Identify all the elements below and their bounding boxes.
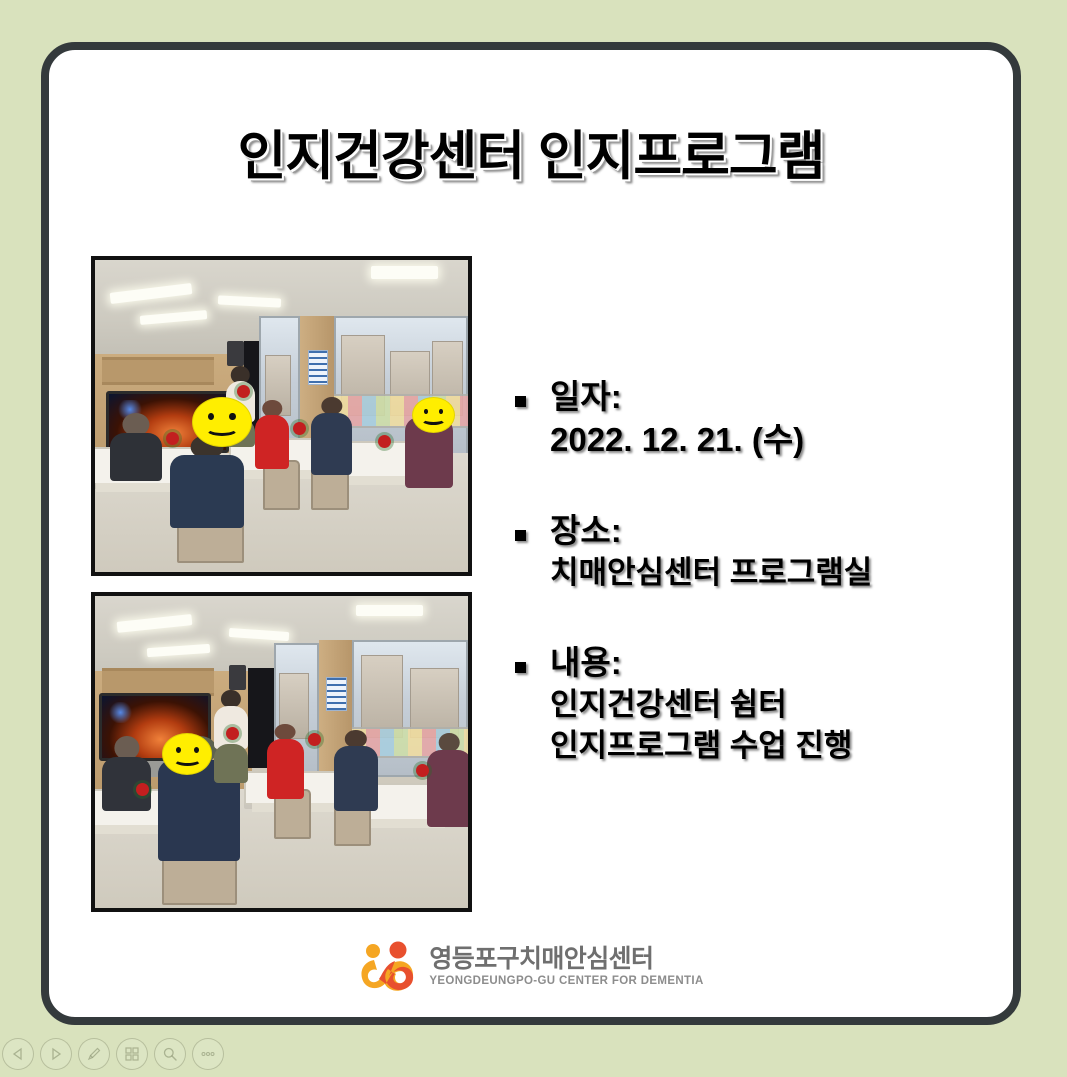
body xyxy=(334,746,379,812)
person xyxy=(110,413,162,482)
person xyxy=(334,730,379,811)
person xyxy=(427,733,472,827)
bullet-square-icon xyxy=(515,396,526,407)
viewer-toolbar xyxy=(0,1031,1067,1077)
wall-shelf xyxy=(102,357,214,385)
wall-shelf xyxy=(102,668,214,696)
detail-value: 인지프로그램 수업 진행 xyxy=(550,725,1015,766)
speaker xyxy=(227,341,244,366)
head xyxy=(275,724,296,740)
body xyxy=(170,455,245,528)
search-icon[interactable] xyxy=(154,1038,186,1070)
flower xyxy=(226,727,239,740)
detail-value: 2022. 12. 21. (수) xyxy=(550,418,1015,462)
logo-text-group: 영등포구치매안심센터 YEONGDEUNGPO-GU CENTER FOR DE… xyxy=(429,947,703,988)
dementia-center-logo-icon xyxy=(358,941,416,993)
detail-list: 일자: 2022. 12. 21. (수) 장소: 치매안심센터 프로그램실 내… xyxy=(515,376,1015,766)
photo-scene xyxy=(95,596,468,908)
person xyxy=(267,724,304,799)
detail-label: 장소: xyxy=(550,510,1015,552)
bullet-square-icon xyxy=(515,662,526,673)
person xyxy=(102,736,150,811)
building xyxy=(361,655,403,738)
detail-value: 인지건강센터 쉼터 xyxy=(550,684,1015,725)
face-cover-smiley-icon xyxy=(412,397,455,433)
detail-label: 내용: xyxy=(550,642,1015,684)
ceiling-light xyxy=(356,605,423,616)
bullet-square-icon xyxy=(515,530,526,541)
eye-icon xyxy=(176,747,181,753)
mouth-icon xyxy=(173,753,202,766)
person xyxy=(255,400,289,469)
body xyxy=(267,739,304,799)
notice-board xyxy=(308,350,329,384)
eye-icon xyxy=(208,413,214,420)
ceiling-light xyxy=(371,266,438,278)
program-photo-1[interactable] xyxy=(91,256,472,576)
flower xyxy=(308,733,321,746)
mouth-icon xyxy=(205,420,240,435)
body xyxy=(255,415,289,469)
pen-icon[interactable] xyxy=(78,1038,110,1070)
detail-body: 일자: 2022. 12. 21. (수) xyxy=(550,376,1015,462)
legs xyxy=(214,744,248,783)
eye-icon xyxy=(229,413,235,420)
detail-body: 내용: 인지건강센터 쉼터 인지프로그램 수업 진행 xyxy=(550,642,1015,767)
detail-body: 장소: 치매안심센터 프로그램실 xyxy=(550,510,1015,593)
layout-icon[interactable] xyxy=(116,1038,148,1070)
flower xyxy=(237,385,250,398)
detail-item-date: 일자: 2022. 12. 21. (수) xyxy=(515,376,1015,462)
photo-column xyxy=(91,256,473,912)
face-cover-smiley-icon xyxy=(192,397,252,447)
detail-item-place: 장소: 치매안심센터 프로그램실 xyxy=(515,510,1015,593)
more-icon[interactable] xyxy=(192,1038,224,1070)
slide-card: 인지건강센터 인지프로그램 xyxy=(41,42,1021,1025)
person xyxy=(311,397,352,475)
body xyxy=(311,413,352,475)
mouth-icon xyxy=(421,414,446,425)
logo-title-ko: 영등포구치매안심센터 xyxy=(429,947,703,972)
flower xyxy=(166,432,179,445)
flower xyxy=(293,422,306,435)
eye-icon xyxy=(194,747,199,753)
person xyxy=(170,435,245,529)
detail-label: 일자: xyxy=(550,376,1015,418)
detail-item-content: 내용: 인지건강센터 쉼터 인지프로그램 수업 진행 xyxy=(515,642,1015,767)
page-title: 인지건강센터 인지프로그램 xyxy=(49,114,1013,190)
previous-icon[interactable] xyxy=(2,1038,34,1070)
body xyxy=(110,433,162,481)
play-icon[interactable] xyxy=(40,1038,72,1070)
logo-title-en: YEONGDEUNGPO-GU CENTER FOR DEMENTIA xyxy=(429,976,703,988)
footer-logo: 영등포구치매안심센터 YEONGDEUNGPO-GU CENTER FOR DE… xyxy=(49,941,1013,993)
program-photo-2[interactable] xyxy=(91,592,472,912)
body xyxy=(427,750,472,827)
detail-value: 치매안심센터 프로그램실 xyxy=(550,552,1015,593)
speaker xyxy=(229,665,246,690)
notice-board xyxy=(326,677,347,711)
